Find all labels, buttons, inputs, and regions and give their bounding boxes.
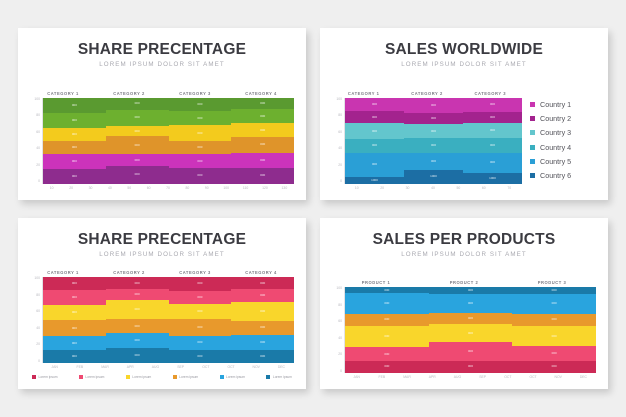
stack-segment: 000 — [429, 324, 513, 342]
stack-segment: 000 — [429, 342, 513, 361]
y-axis-tick: 80 — [36, 114, 40, 117]
segment-value-label: 000 — [372, 103, 377, 106]
x-axis-tick: 70 — [497, 186, 522, 190]
segment-value-label: 000 — [197, 310, 202, 313]
category-label: CATEGORY 4 — [228, 270, 294, 275]
segment-value-label: 000 — [135, 308, 140, 311]
segment-value-label: 000 — [260, 282, 265, 285]
segment-value-label: 000 — [197, 117, 202, 120]
segment-value-label: 000 — [72, 133, 77, 136]
legend-swatch — [530, 145, 535, 150]
segment-value-label: 000 — [260, 341, 265, 344]
segment-value-label: 000 — [552, 335, 557, 338]
x-axis-tick: OCT — [193, 365, 218, 369]
x-axis-tick: FEB — [369, 375, 394, 379]
stack-segment: 000 — [231, 335, 294, 350]
page-title: SHARE PRECENTAGE — [30, 232, 294, 248]
legend-label: Country 2 — [540, 114, 571, 123]
x-axis-tick: JAN — [42, 365, 67, 369]
stack-segment: 000 — [345, 361, 429, 373]
x-axis-tick: AUG — [143, 365, 168, 369]
legend-series-list: Lorem ipsumLorem ipsumLorem ipsumLorem i… — [30, 375, 294, 379]
y-axis-tick: 80 — [338, 304, 342, 307]
y-axis-tick: 60 — [338, 320, 342, 323]
stack-segment: 000 — [106, 98, 169, 110]
segment-value-label: 000 — [72, 160, 77, 163]
segment-value-label: 000 — [260, 129, 265, 132]
x-axis-tick: 30 — [81, 186, 100, 190]
chart-main: CATEGORY 1CATEGORY 2CATEGORY 3 100806040… — [332, 91, 522, 190]
segment-value-label: 000 — [72, 342, 77, 345]
segment-value-label: 000 — [260, 355, 265, 358]
segment-value-label: 000 — [468, 317, 473, 320]
segment-value-label: 000 — [135, 325, 140, 328]
legend-label: Country 1 — [540, 100, 571, 109]
category-label: CATEGORY 1 — [332, 91, 395, 96]
x-axis: 102030405060708090100110120130 — [30, 186, 294, 190]
stack-segment: 000 — [169, 98, 232, 112]
x-axis-tick: 100 — [217, 186, 236, 190]
stack-column: 000000000000000000 — [231, 277, 294, 363]
stack-segment: 000 — [345, 111, 404, 123]
stack-column: 000000000000000000 — [512, 287, 596, 373]
plot-wrapper: CATEGORY 1CATEGORY 2CATEGORY 3CATEGORY 4… — [30, 70, 294, 191]
plot-area: 100806040200 000000000000000100000000000… — [332, 98, 522, 184]
legend-item[interactable]: Lorem ipsum — [126, 375, 152, 379]
y-axis-tick: 100 — [34, 98, 40, 101]
stack-segment: 000 — [231, 123, 294, 137]
stack-segment: 000 — [404, 138, 463, 153]
stack-column: 000000000000000000 — [43, 98, 106, 184]
stacked-area-plot: 0000000000000000000000000000000000000000… — [344, 287, 596, 373]
stack-segment: 000 — [429, 361, 513, 373]
legend-label: Lorem ipsum — [85, 375, 104, 379]
y-axis-tick: 60 — [36, 131, 40, 134]
segment-value-label: 000 — [72, 282, 77, 285]
legend-item[interactable]: Lorem ipsum — [220, 375, 246, 379]
y-axis-tick: 40 — [338, 147, 342, 150]
plot-area: 100806040200 000000000000000000000000000… — [30, 98, 294, 184]
stack-segment: 000 — [43, 169, 106, 184]
segment-value-label: 000 — [431, 144, 436, 147]
stacked-area-plot: 0000000000000000000000000000000000000000… — [42, 277, 294, 363]
x-axis-tick: DEC — [269, 365, 294, 369]
segment-value-label: 000 — [260, 310, 265, 313]
stack-segment: 000 — [231, 168, 294, 183]
legend-label: Lorem ipsum — [273, 375, 292, 379]
category-label: CATEGORY 3 — [162, 91, 228, 96]
y-axis-tick: 20 — [338, 353, 342, 356]
legend-label: Country 3 — [540, 128, 571, 137]
stack-segment: 1000 — [404, 170, 463, 184]
stack-segment: 000 — [169, 291, 232, 304]
x-axis-tick: 130 — [275, 186, 294, 190]
y-axis-tick: 80 — [338, 114, 342, 117]
legend-item[interactable]: Lorem ipsum — [79, 375, 105, 379]
plot-wrapper: PRODUCT 1PRODUCT 2PRODUCT 3 100806040200… — [332, 260, 596, 381]
x-axis-tick: SEP — [470, 375, 495, 379]
stack-column: 000000000000000000 — [106, 277, 169, 363]
legend-item[interactable]: Country 2 — [530, 114, 596, 123]
stack-segment: 000 — [106, 110, 169, 126]
segment-value-label: 000 — [372, 116, 377, 119]
plot-area: 100806040200 000000000000000000000000000… — [332, 287, 596, 373]
segment-value-label: 000 — [135, 354, 140, 357]
segment-value-label: 000 — [468, 289, 473, 292]
x-axis-tick: NOV — [546, 375, 571, 379]
stack-segment: 000 — [106, 126, 169, 136]
segment-value-label: 000 — [72, 104, 77, 107]
stack-column: 000000000000000000 — [231, 98, 294, 184]
category-header-row: PRODUCT 1PRODUCT 2PRODUCT 3 — [332, 280, 596, 285]
legend-swatch — [530, 173, 535, 178]
segment-value-label: 000 — [260, 294, 265, 297]
segment-value-label: 000 — [260, 102, 265, 105]
legend-country-list: Country 1Country 2Country 3Country 4Coun… — [522, 91, 596, 190]
x-axis: JANFEBMARAPRAUGSEPOCTOCTNOVDEC — [30, 365, 294, 369]
segment-value-label: 000 — [135, 159, 140, 162]
legend-label: Country 6 — [540, 171, 571, 180]
stack-segment: 000 — [43, 336, 106, 350]
category-label: CATEGORY 3 — [459, 91, 522, 96]
stack-segment: 000 — [231, 289, 294, 302]
x-axis-tick: 20 — [369, 186, 394, 190]
y-axis-tick: 20 — [36, 343, 40, 346]
category-header-row: CATEGORY 1CATEGORY 2CATEGORY 3CATEGORY 4 — [30, 270, 294, 275]
segment-value-label: 000 — [490, 161, 495, 164]
x-axis-tick: 50 — [446, 186, 471, 190]
stack-segment: 000 — [231, 98, 294, 109]
segment-value-label: 000 — [490, 116, 495, 119]
legend-swatch — [530, 130, 535, 135]
segment-value-label: 000 — [384, 353, 389, 356]
stack-segment: 000 — [169, 168, 232, 183]
legend-swatch — [126, 375, 130, 379]
y-axis-tick: 100 — [336, 287, 342, 290]
stack-segment: 000 — [43, 320, 106, 336]
stack-segment: 000 — [231, 321, 294, 335]
category-header-row: CATEGORY 1CATEGORY 2CATEGORY 3CATEGORY 4 — [30, 91, 294, 96]
stack-segment: 000 — [231, 109, 294, 124]
stack-segment: 1000 — [345, 177, 404, 184]
segment-value-label: 000 — [197, 174, 202, 177]
x-axis-tick: 40 — [100, 186, 119, 190]
stack-segment: 000 — [106, 277, 169, 289]
segment-value-label: 1000 — [430, 175, 437, 178]
x-axis-tick: JAN — [344, 375, 369, 379]
x-axis-tick: OCT — [495, 375, 520, 379]
category-label: PRODUCT 3 — [508, 280, 596, 285]
x-axis-tick: FEB — [67, 365, 92, 369]
y-axis-tick: 20 — [338, 164, 342, 167]
stack-segment: 000 — [169, 336, 232, 351]
category-header-row: CATEGORY 1CATEGORY 2CATEGORY 3 — [332, 91, 522, 96]
page-subtitle: LOREM IPSUM DOLOR SIT AMET — [30, 251, 294, 258]
category-label: PRODUCT 2 — [420, 280, 508, 285]
stack-segment: 000 — [169, 304, 232, 319]
segment-value-label: 000 — [468, 365, 473, 368]
segment-value-label: 000 — [372, 163, 377, 166]
x-axis-tick: SEP — [168, 365, 193, 369]
slide-board: SHARE PRECENTAGE LOREM IPSUM DOLOR SIT A… — [0, 0, 626, 417]
x-axis-tick: DEC — [571, 375, 596, 379]
segment-value-label: 000 — [72, 296, 77, 299]
y-axis-tick: 100 — [336, 98, 342, 101]
x-axis-tick: NOV — [244, 365, 269, 369]
x-axis-tick: 80 — [178, 186, 197, 190]
stack-segment: 000 — [231, 153, 294, 168]
segment-value-label: 000 — [197, 341, 202, 344]
plot-row: PRODUCT 1PRODUCT 2PRODUCT 3 100806040200… — [332, 280, 596, 379]
segment-value-label: 1000 — [371, 179, 378, 182]
segment-value-label: 000 — [72, 355, 77, 358]
segment-value-label: 000 — [135, 116, 140, 119]
legend-item[interactable]: Lorem ipsum — [32, 375, 58, 379]
segment-value-label: 000 — [197, 326, 202, 329]
segment-value-label: 000 — [490, 103, 495, 106]
stack-segment: 000 — [512, 326, 596, 347]
segment-value-label: 000 — [197, 132, 202, 135]
segment-value-label: 000 — [431, 130, 436, 133]
chart-main: CATEGORY 1CATEGORY 2CATEGORY 3CATEGORY 4… — [30, 270, 294, 369]
x-axis-tick: 110 — [236, 186, 255, 190]
legend-label: Country 4 — [540, 143, 571, 152]
stack-segment: 000 — [463, 112, 522, 123]
legend-swatch — [530, 116, 535, 121]
chart-card-sales-per-products: SALES PER PRODUCTS LOREM IPSUM DOLOR SIT… — [320, 218, 608, 390]
stack-segment: 000 — [345, 123, 404, 138]
stack-segment: 000 — [231, 302, 294, 321]
category-label: CATEGORY 2 — [395, 91, 458, 96]
plot-row: CATEGORY 1CATEGORY 2CATEGORY 3CATEGORY 4… — [30, 270, 294, 369]
chart-card-share-precentage-top: SHARE PRECENTAGE LOREM IPSUM DOLOR SIT A… — [18, 28, 306, 200]
category-label: CATEGORY 1 — [30, 91, 96, 96]
segment-value-label: 000 — [384, 289, 389, 292]
x-axis-tick: 40 — [420, 186, 445, 190]
legend-item[interactable]: Country 4 — [530, 143, 596, 152]
segment-value-label: 000 — [468, 302, 473, 305]
legend-swatch — [530, 102, 535, 107]
segment-value-label: 000 — [197, 146, 202, 149]
segment-value-label: 000 — [72, 146, 77, 149]
page-title: SALES WORLDWIDE — [332, 42, 596, 58]
stack-column: 0000000000000001000 — [463, 98, 522, 184]
segment-value-label: 000 — [72, 175, 77, 178]
segment-value-label: 000 — [197, 282, 202, 285]
x-axis-tick: 120 — [255, 186, 274, 190]
segment-value-label: 000 — [72, 327, 77, 330]
stack-column: 000000000000000000 — [43, 277, 106, 363]
stack-segment: 000 — [106, 333, 169, 348]
stack-segment: 000 — [43, 350, 106, 363]
stack-segment: 000 — [43, 277, 106, 290]
segment-value-label: 000 — [72, 311, 77, 314]
stack-segment: 000 — [404, 113, 463, 124]
stack-segment: 000 — [512, 314, 596, 326]
stack-segment: 000 — [463, 98, 522, 113]
stack-segment: 000 — [106, 289, 169, 300]
stack-segment: 000 — [231, 277, 294, 289]
stack-segment: 000 — [404, 98, 463, 113]
legend-item[interactable]: Country 6 — [530, 171, 596, 180]
legend-label: Lorem ipsum — [132, 375, 151, 379]
stack-column: 000000000000000000 — [345, 287, 429, 373]
segment-value-label: 000 — [552, 352, 557, 355]
x-axis-tick: OCT — [218, 365, 243, 369]
segment-value-label: 000 — [135, 282, 140, 285]
page-title: SHARE PRECENTAGE — [30, 42, 294, 58]
x-axis-tick: AUG — [445, 375, 470, 379]
stack-column: 000000000000000000 — [169, 277, 232, 363]
stack-segment: 000 — [345, 314, 429, 326]
segment-value-label: 000 — [490, 144, 495, 147]
segment-value-label: 000 — [197, 296, 202, 299]
stack-segment: 000 — [43, 113, 106, 128]
page-title: SALES PER PRODUCTS — [332, 232, 596, 248]
stack-segment: 000 — [512, 346, 596, 361]
page-subtitle: LOREM IPSUM DOLOR SIT AMET — [332, 61, 596, 68]
chart-main: PRODUCT 1PRODUCT 2PRODUCT 3 100806040200… — [332, 280, 596, 379]
legend-item[interactable]: Lorem ipsum — [173, 375, 199, 379]
segment-value-label: 000 — [197, 103, 202, 106]
plot-row: CATEGORY 1CATEGORY 2CATEGORY 3CATEGORY 4… — [30, 91, 294, 190]
stack-segment: 000 — [106, 348, 169, 363]
plot-wrapper: CATEGORY 1CATEGORY 2CATEGORY 3 100806040… — [332, 70, 596, 191]
segment-value-label: 000 — [552, 302, 557, 305]
category-label: CATEGORY 4 — [228, 91, 294, 96]
legend-swatch — [32, 375, 36, 379]
segment-value-label: 000 — [135, 144, 140, 147]
legend-swatch — [530, 159, 535, 164]
segment-value-label: 000 — [135, 293, 140, 296]
plot-wrapper: CATEGORY 1CATEGORY 2CATEGORY 3CATEGORY 4… — [30, 260, 294, 381]
segment-value-label: 000 — [384, 302, 389, 305]
segment-value-label: 000 — [260, 174, 265, 177]
stack-segment: 000 — [106, 300, 169, 319]
legend-item[interactable]: Country 1 — [530, 100, 596, 109]
legend-swatch — [79, 375, 83, 379]
stack-segment: 1000 — [463, 173, 522, 183]
stack-segment: 000 — [345, 293, 429, 314]
stack-segment: 000 — [169, 319, 232, 335]
stack-segment: 000 — [345, 326, 429, 348]
y-axis-tick: 0 — [340, 370, 342, 373]
stack-segment: 000 — [43, 290, 106, 305]
stack-segment: 000 — [463, 153, 522, 174]
stack-segment: 000 — [43, 98, 106, 113]
segment-value-label: 000 — [431, 160, 436, 163]
x-axis-tick: OCT — [520, 375, 545, 379]
legend-label: Lorem ipsum — [39, 375, 58, 379]
segment-value-label: 000 — [372, 144, 377, 147]
stack-segment: 000 — [169, 111, 232, 125]
segment-value-label: 000 — [431, 104, 436, 107]
legend-item[interactable]: Lorem ipsum — [266, 375, 292, 379]
y-axis: 100806040200 — [30, 277, 42, 363]
legend-label: Country 5 — [540, 157, 571, 166]
stack-segment: 000 — [429, 313, 513, 324]
legend-swatch — [173, 375, 177, 379]
x-axis-tick: 30 — [395, 186, 420, 190]
stack-segment: 000 — [429, 287, 513, 294]
x-axis-tick: 60 — [471, 186, 496, 190]
stack-segment: 000 — [169, 141, 232, 154]
y-axis-tick: 60 — [36, 310, 40, 313]
y-axis-tick: 0 — [38, 360, 40, 363]
segment-value-label: 000 — [197, 355, 202, 358]
segment-value-label: 000 — [260, 115, 265, 118]
x-axis-tick: 60 — [139, 186, 158, 190]
y-axis-tick: 20 — [36, 164, 40, 167]
x-axis-tick: 90 — [197, 186, 216, 190]
stack-segment: 000 — [512, 361, 596, 373]
y-axis-tick: 40 — [338, 337, 342, 340]
stack-segment: 000 — [404, 153, 463, 169]
stack-segment: 000 — [512, 287, 596, 294]
segment-value-label: 000 — [552, 318, 557, 321]
stack-segment: 000 — [463, 123, 522, 138]
stack-segment: 000 — [231, 350, 294, 363]
y-axis-tick: 40 — [36, 147, 40, 150]
x-axis-tick: MAR — [92, 365, 117, 369]
x-axis-tick: 20 — [61, 186, 80, 190]
plot-area: 100806040200 000000000000000000000000000… — [30, 277, 294, 363]
segment-value-label: 000 — [197, 160, 202, 163]
stack-segment: 000 — [106, 136, 169, 154]
segment-value-label: 000 — [384, 335, 389, 338]
stacked-area-plot: 0000000000000000000000000000000000000000… — [42, 98, 294, 184]
stack-segment: 000 — [345, 139, 404, 153]
category-label: PRODUCT 1 — [332, 280, 420, 285]
stack-segment: 000 — [106, 154, 169, 166]
category-label: CATEGORY 1 — [30, 270, 96, 275]
segment-value-label: 000 — [431, 117, 436, 120]
y-axis-tick: 0 — [340, 180, 342, 183]
x-axis: JANFEBMARAPRAUGSEPOCTOCTNOVDEC — [332, 375, 596, 379]
y-axis-tick: 0 — [38, 180, 40, 183]
y-axis-tick: 40 — [36, 327, 40, 330]
x-axis-tick: 10 — [344, 186, 369, 190]
segment-value-label: 000 — [135, 339, 140, 342]
legend-swatch — [220, 375, 224, 379]
x-axis-tick: APR — [420, 375, 445, 379]
segment-value-label: 000 — [468, 350, 473, 353]
stack-segment: 000 — [345, 98, 404, 112]
segment-value-label: 000 — [135, 102, 140, 105]
x-axis-tick: 50 — [120, 186, 139, 190]
stack-segment: 000 — [43, 141, 106, 154]
legend-swatch — [266, 375, 270, 379]
x-axis-tick: 70 — [158, 186, 177, 190]
y-axis-tick: 80 — [36, 294, 40, 297]
stacked-area-plot: 0000000000000001000000000000000000100000… — [344, 98, 522, 184]
legend-item[interactable]: Country 5 — [530, 157, 596, 166]
segment-value-label: 000 — [552, 365, 557, 368]
x-axis: 10203040506070 — [332, 186, 522, 190]
page-subtitle: LOREM IPSUM DOLOR SIT AMET — [30, 61, 294, 68]
category-label: CATEGORY 3 — [162, 270, 228, 275]
x-axis-tick: MAR — [394, 375, 419, 379]
stack-column: 0000000000000001000 — [345, 98, 404, 184]
segment-value-label: 000 — [384, 318, 389, 321]
segment-value-label: 000 — [552, 289, 557, 292]
segment-value-label: 1000 — [489, 177, 496, 180]
stack-segment: 000 — [231, 137, 294, 152]
chart-card-sales-worldwide: SALES WORLDWIDE LOREM IPSUM DOLOR SIT AM… — [320, 28, 608, 200]
legend-item[interactable]: Country 3 — [530, 128, 596, 137]
segment-value-label: 000 — [260, 326, 265, 329]
plot-row: CATEGORY 1CATEGORY 2CATEGORY 3 100806040… — [332, 91, 596, 190]
